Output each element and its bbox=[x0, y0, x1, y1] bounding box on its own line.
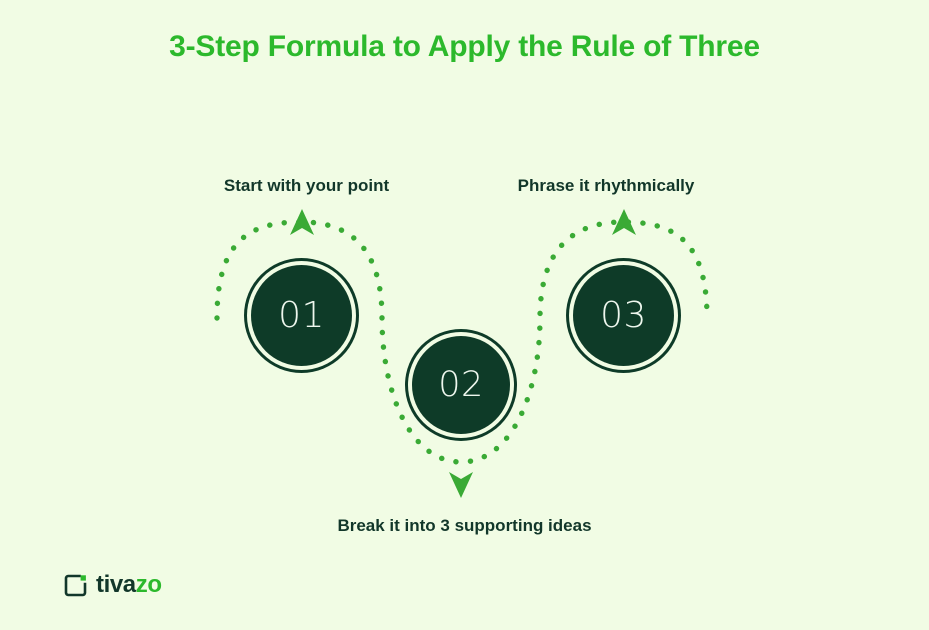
step-circle-01: 01 bbox=[251, 265, 352, 366]
logo-text-zo: zo bbox=[136, 571, 162, 598]
step-label-03: Phrase it rhythmically bbox=[316, 176, 896, 196]
arrow-down-icon bbox=[449, 472, 473, 498]
arrow-up-icon bbox=[612, 209, 636, 235]
infographic-canvas: 3-Step Formula to Apply the Rule of Thre… bbox=[0, 0, 929, 630]
step-number-02: 02 bbox=[438, 368, 484, 403]
logo-wordmark: tivazo bbox=[96, 573, 162, 597]
step-circle-03: 03 bbox=[573, 265, 674, 366]
tivazo-bracket-icon bbox=[64, 574, 87, 597]
step-circle-02: 02 bbox=[412, 336, 510, 434]
brand-logo: tivazo bbox=[64, 573, 162, 597]
step-number-03: 03 bbox=[600, 298, 647, 334]
arrow-up-icon bbox=[290, 209, 314, 235]
step-number-01: 01 bbox=[278, 298, 325, 334]
step-label-02: Break it into 3 supporting ideas bbox=[0, 516, 929, 536]
logo-text-tiva: tiva bbox=[96, 571, 136, 598]
